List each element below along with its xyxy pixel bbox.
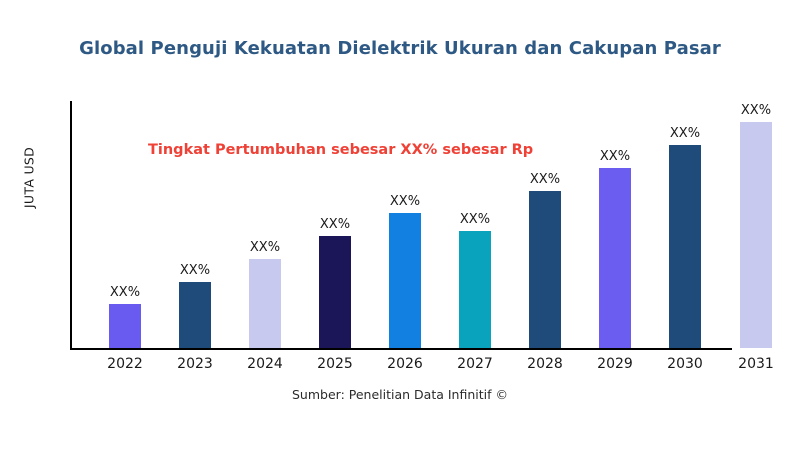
bar-2030[interactable] xyxy=(669,145,701,348)
bar-value-label: XX% xyxy=(92,285,158,300)
bar-2022[interactable] xyxy=(109,304,141,348)
bar-value-label: XX% xyxy=(723,103,789,118)
bar-value-label: XX% xyxy=(232,240,298,255)
bar-2023[interactable] xyxy=(179,282,211,348)
bar-2028[interactable] xyxy=(529,191,561,348)
bar-value-label: XX% xyxy=(512,172,578,187)
bar-2026[interactable] xyxy=(389,213,421,348)
x-tick-2028: 2028 xyxy=(512,356,578,372)
bar-2029[interactable] xyxy=(599,168,631,348)
x-tick-2024: 2024 xyxy=(232,356,298,372)
bar-value-label: XX% xyxy=(302,217,368,232)
x-tick-2025: 2025 xyxy=(302,356,368,372)
x-tick-2026: 2026 xyxy=(372,356,438,372)
x-tick-2022: 2022 xyxy=(92,356,158,372)
plot-area: XX% 2022 XX% 2023 XX% 2024 XX% 2025 XX% … xyxy=(0,0,800,450)
x-tick-2030: 2030 xyxy=(652,356,718,372)
x-tick-2027: 2027 xyxy=(442,356,508,372)
bar-2025[interactable] xyxy=(319,236,351,348)
x-tick-2029: 2029 xyxy=(582,356,648,372)
bar-value-label: XX% xyxy=(372,194,438,209)
source-note: Sumber: Penelitian Data Infinitif © xyxy=(0,387,800,402)
bar-2031[interactable] xyxy=(740,122,772,348)
x-tick-2031: 2031 xyxy=(723,356,789,372)
bar-2024[interactable] xyxy=(249,259,281,348)
x-tick-2023: 2023 xyxy=(162,356,228,372)
bar-2027[interactable] xyxy=(459,231,491,348)
bar-value-label: XX% xyxy=(442,212,508,227)
bar-chart-figure: Global Penguji Kekuatan Dielektrik Ukura… xyxy=(0,0,800,450)
bar-value-label: XX% xyxy=(162,263,228,278)
bar-value-label: XX% xyxy=(652,126,718,141)
bar-value-label: XX% xyxy=(582,149,648,164)
